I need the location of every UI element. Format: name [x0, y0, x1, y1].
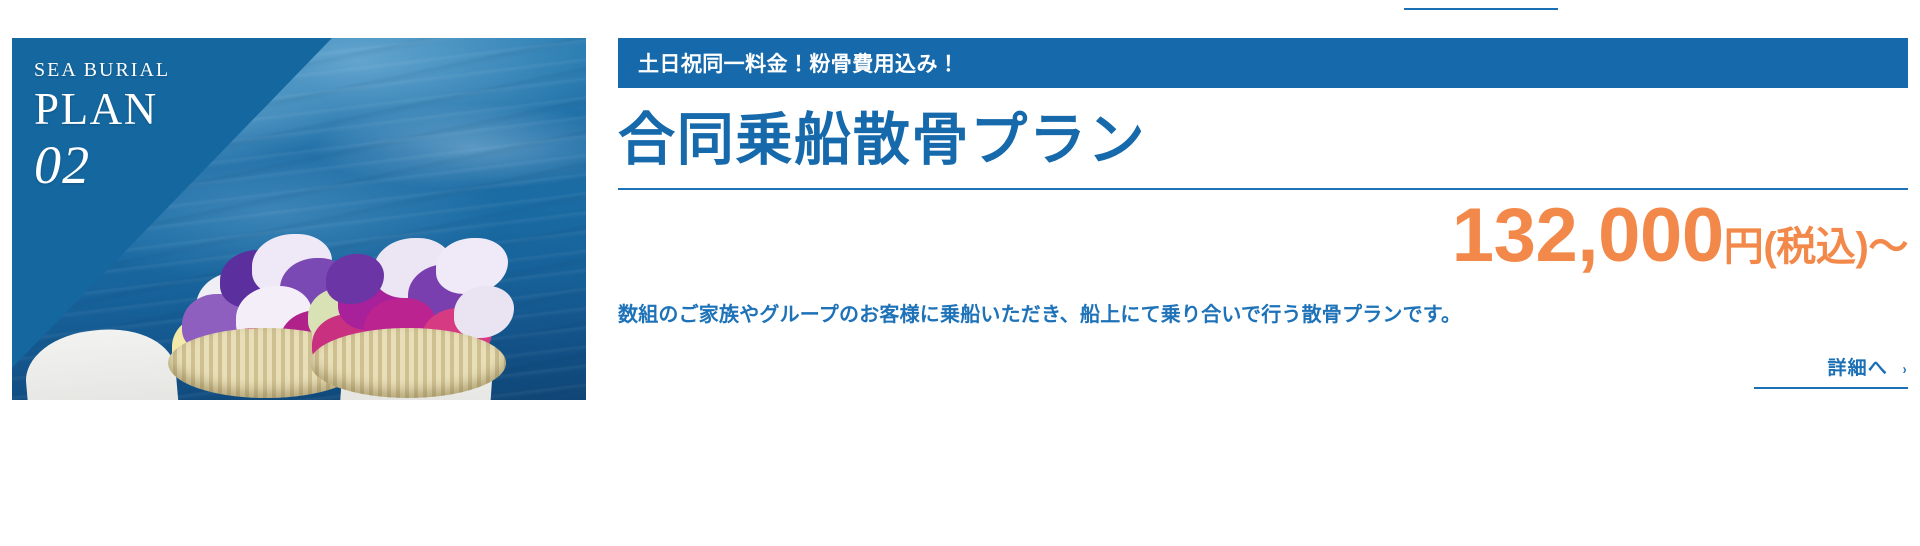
- plan-price-amount: 132,000: [1452, 200, 1724, 272]
- plan-title: 合同乗船散骨プラン: [618, 110, 1908, 172]
- flower-baskets: [12, 150, 586, 400]
- plan-ribbon: 土日祝同一料金！粉骨費用込み！: [618, 38, 1908, 88]
- chevron-right-icon: ›: [1902, 361, 1907, 378]
- plan-price-suffix: 円(税込)〜: [1724, 227, 1908, 272]
- hand-left: [22, 324, 180, 400]
- plan-card: SEA BURIAL PLAN 02: [0, 0, 1920, 546]
- plan-detail-link[interactable]: 詳細へ›: [1754, 353, 1908, 389]
- plan-detail-label: 詳細へ: [1827, 358, 1887, 379]
- flower-basket-2: [304, 210, 514, 400]
- plan-badge-line2: PLAN: [34, 87, 170, 132]
- plan-description: 数組のご家族やグループのお客様に乗船いただき、船上にて乗り合いで行う散骨プランで…: [618, 298, 1908, 327]
- plan-badge-line1: SEA BURIAL: [34, 60, 170, 80]
- title-divider: [618, 188, 1908, 190]
- plan-price: 132,000 円(税込)〜: [618, 200, 1908, 272]
- plan-photo: SEA BURIAL PLAN 02: [12, 38, 586, 400]
- basket-rim-2: [310, 328, 506, 398]
- plan-details: 土日祝同一料金！粉骨費用込み！ 合同乗船散骨プラン 132,000 円(税込)〜…: [618, 38, 1908, 389]
- plan-ribbon-text: 土日祝同一料金！粉骨費用込み！: [638, 48, 959, 78]
